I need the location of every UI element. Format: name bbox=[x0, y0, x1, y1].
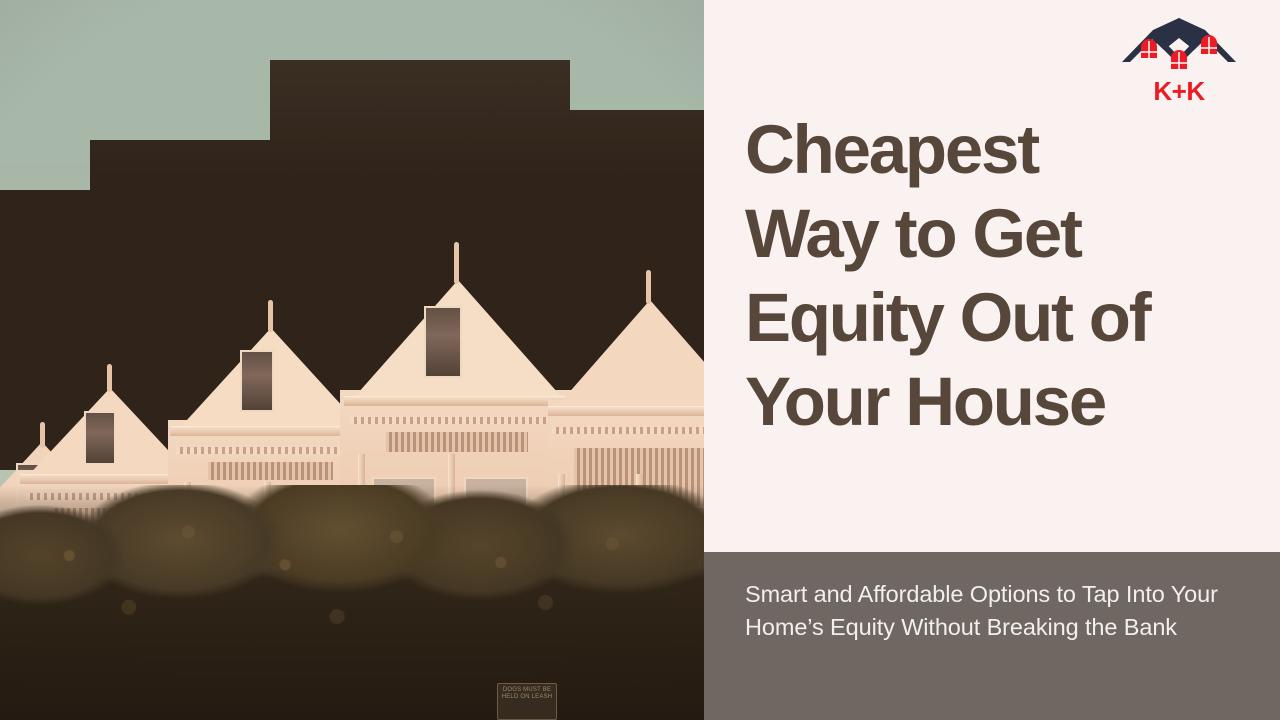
foreground-tree-line bbox=[0, 485, 704, 720]
park-sign: DOGS MUST BE HELD ON LEASH bbox=[497, 683, 557, 720]
brand-logo[interactable]: K+K bbox=[1120, 16, 1238, 104]
headline-line-2: Way to Get bbox=[745, 192, 1245, 276]
hero-photo: DOGS MUST BE HELD ON LEASH bbox=[0, 0, 704, 720]
headline-line-3: Equity Out of bbox=[745, 276, 1245, 360]
subtitle-band: Smart and Affordable Options to Tap Into… bbox=[704, 552, 1280, 720]
double-gable-roof-icon: K+K bbox=[1120, 16, 1238, 104]
subtitle-text: Smart and Affordable Options to Tap Into… bbox=[745, 578, 1235, 644]
poster-canvas: DOGS MUST BE HELD ON LEASH bbox=[0, 0, 1280, 720]
headline-line-4: Your House bbox=[745, 360, 1245, 444]
park-sign-line-2: HELD ON LEASH bbox=[498, 694, 556, 701]
tree-foliage-texture bbox=[0, 485, 704, 720]
headline-line-1: Cheapest bbox=[745, 108, 1245, 192]
page-title: Cheapest Way to Get Equity Out of Your H… bbox=[745, 108, 1245, 444]
logo-wordmark: K+K bbox=[1153, 76, 1205, 104]
park-sign-line-1: DOGS MUST BE bbox=[498, 687, 556, 694]
